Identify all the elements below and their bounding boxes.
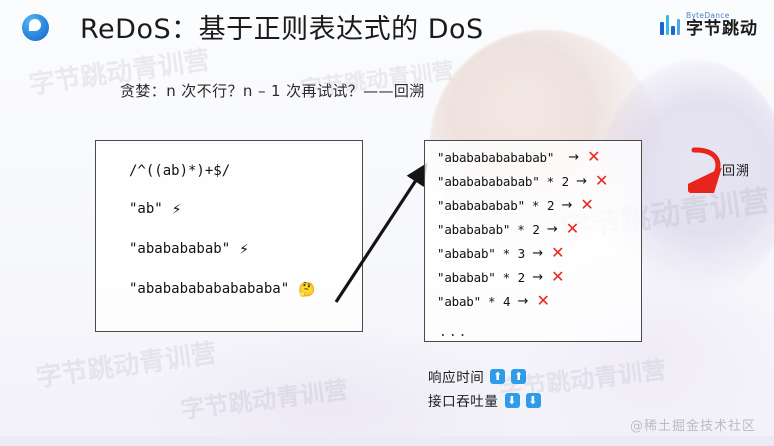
arrow-down-icon: ⬇	[526, 393, 541, 408]
arrow-right-icon: →	[532, 246, 543, 261]
trace-multiplier: * 2	[547, 174, 570, 189]
bytedance-logo: ByteDance 字节跳动	[660, 8, 758, 42]
metric-label: 接口吞吐量	[428, 390, 499, 410]
trace-string: "ababababababab"	[437, 150, 554, 165]
fail-cross-icon: ✕	[595, 173, 608, 189]
arrow-right-icon: →	[576, 174, 587, 189]
trace-multiplier: * 4	[488, 294, 511, 309]
trace-multiplier: * 3	[503, 246, 526, 261]
sample-string-line: "ababababab"⚡	[129, 241, 249, 258]
bytedance-bars-icon	[660, 15, 680, 35]
sample-string-text: "ab"	[129, 201, 163, 217]
arrow-right-icon: →	[562, 198, 573, 213]
page-title: ReDoS：基于正则表达式的 DoS	[80, 7, 484, 46]
backtrack-label: 回溯	[722, 160, 750, 179]
arrow-up-icon: ⬆	[511, 369, 526, 384]
lightning-icon: ⚡	[239, 242, 249, 258]
trace-row: "abab" * 4 → ✕	[437, 293, 550, 309]
bottom-band	[0, 436, 774, 446]
lightning-icon: ⚡	[172, 202, 182, 218]
arrow-right-icon: →	[547, 222, 558, 237]
fail-cross-icon: ✕	[551, 245, 564, 261]
thinking-face-icon: 🤔	[298, 282, 315, 298]
slide-root: 字节跳动青训营 字节跳动青训营 字节跳动青训营 字节跳动青训营 字节跳动青训营 …	[0, 0, 774, 446]
arrow-down-icon: ⬇	[505, 393, 520, 408]
sample-string-line: "ab"⚡	[129, 201, 182, 218]
trace-row: "ababababababab" → ✕	[437, 149, 601, 165]
sample-string-text: "ababababab"	[129, 241, 230, 257]
trace-string: "ababab"	[437, 270, 496, 285]
trace-ellipsis: ...	[439, 325, 468, 340]
metric-label: 响应时间	[428, 366, 484, 386]
regex-pattern-line: /^((ab)*)+$/	[129, 163, 230, 179]
trace-row: "ababab" * 3 → ✕	[437, 245, 565, 261]
regex-pattern-text: /^((ab)*)+$/	[129, 163, 230, 179]
metric-throughput: 接口吞吐量 ⬇ ⬇	[428, 390, 541, 410]
trace-row: "abababababab" * 2 → ✕	[437, 173, 608, 189]
metric-response-time: 响应时间 ⬆ ⬆	[428, 366, 526, 386]
subtitle: 贪婪：n 次不行？n – 1 次再试试？——回溯	[120, 80, 425, 101]
backtracking-trace-box: "ababababababab" → ✕ "abababababab" * 2 …	[424, 140, 642, 342]
trace-multiplier: * 2	[503, 270, 526, 285]
trace-string: "abababababab"	[437, 174, 540, 189]
regex-example-box: /^((ab)*)+$/ "ab"⚡ "ababababab"⚡ "ababab…	[95, 140, 363, 332]
trace-string: "ababababab"	[437, 198, 525, 213]
trace-string: "abab"	[437, 294, 481, 309]
fail-cross-icon: ✕	[566, 221, 579, 237]
footer-credit: @稀土掘金技术社区	[630, 415, 756, 434]
fail-cross-icon: ✕	[587, 149, 600, 165]
fail-cross-icon: ✕	[580, 197, 593, 213]
slide-header: ReDoS：基于正则表达式的 DoS ByteDance 字节跳动	[0, 0, 774, 56]
juejin-logo-icon	[22, 14, 49, 41]
trace-string: "ababab"	[437, 246, 496, 261]
arrow-up-icon: ⬆	[490, 369, 505, 384]
trace-multiplier: * 2	[532, 198, 555, 213]
trace-row: "abababab" * 2 → ✕	[437, 221, 579, 237]
trace-row: "ababababab" * 2 → ✕	[437, 197, 594, 213]
trace-row: "ababab" * 2 → ✕	[437, 269, 565, 285]
trace-string: "abababab"	[437, 222, 510, 237]
sample-string-line: "ababababababababa"🤔	[129, 281, 316, 298]
fail-cross-icon: ✕	[551, 269, 564, 285]
trace-multiplier: * 2	[517, 222, 540, 237]
fail-cross-icon: ✕	[536, 293, 549, 309]
arrow-right-icon: →	[532, 270, 543, 285]
arrow-right-icon: →	[518, 294, 529, 309]
arrow-right-icon: →	[568, 150, 579, 165]
sample-string-text: "ababababababababa"	[129, 281, 289, 297]
brand-name-cn: 字节跳动	[686, 21, 758, 38]
background-blob	[150, 330, 510, 446]
